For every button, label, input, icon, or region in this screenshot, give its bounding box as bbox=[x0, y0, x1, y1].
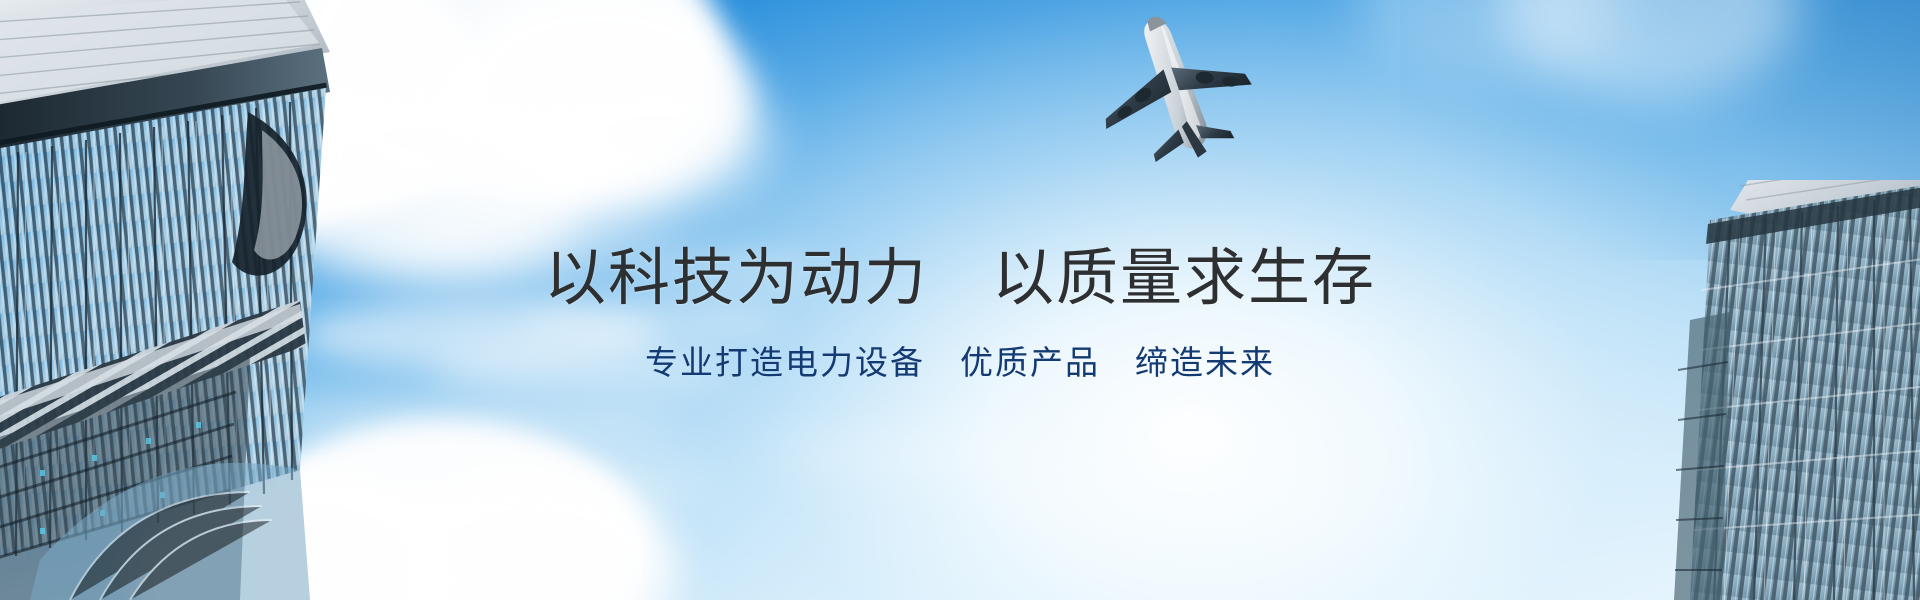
skyscraper-right-icon bbox=[1590, 180, 1920, 600]
skyscraper-left-icon bbox=[0, 0, 330, 600]
hero-banner: 以科技为动力 以质量求生存 专业打造电力设备 优质产品 缔造未来 bbox=[0, 0, 1920, 600]
